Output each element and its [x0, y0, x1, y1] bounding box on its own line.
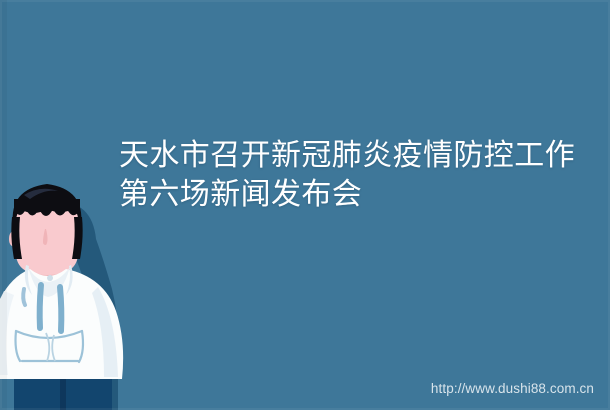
site-url-watermark: http://www.dushi88.com.cn	[431, 381, 594, 396]
headline: 天水市召开新冠肺炎疫情防控工作 第六场新闻发布会	[119, 136, 589, 214]
headline-line-1: 天水市召开新冠肺炎疫情防控工作	[119, 136, 589, 175]
news-banner: 天水市召开新冠肺炎疫情防控工作 第六场新闻发布会 http://www.dush…	[0, 0, 610, 410]
headline-line-2: 第六场新闻发布会	[119, 175, 589, 214]
left-edge-band	[0, 0, 7, 410]
